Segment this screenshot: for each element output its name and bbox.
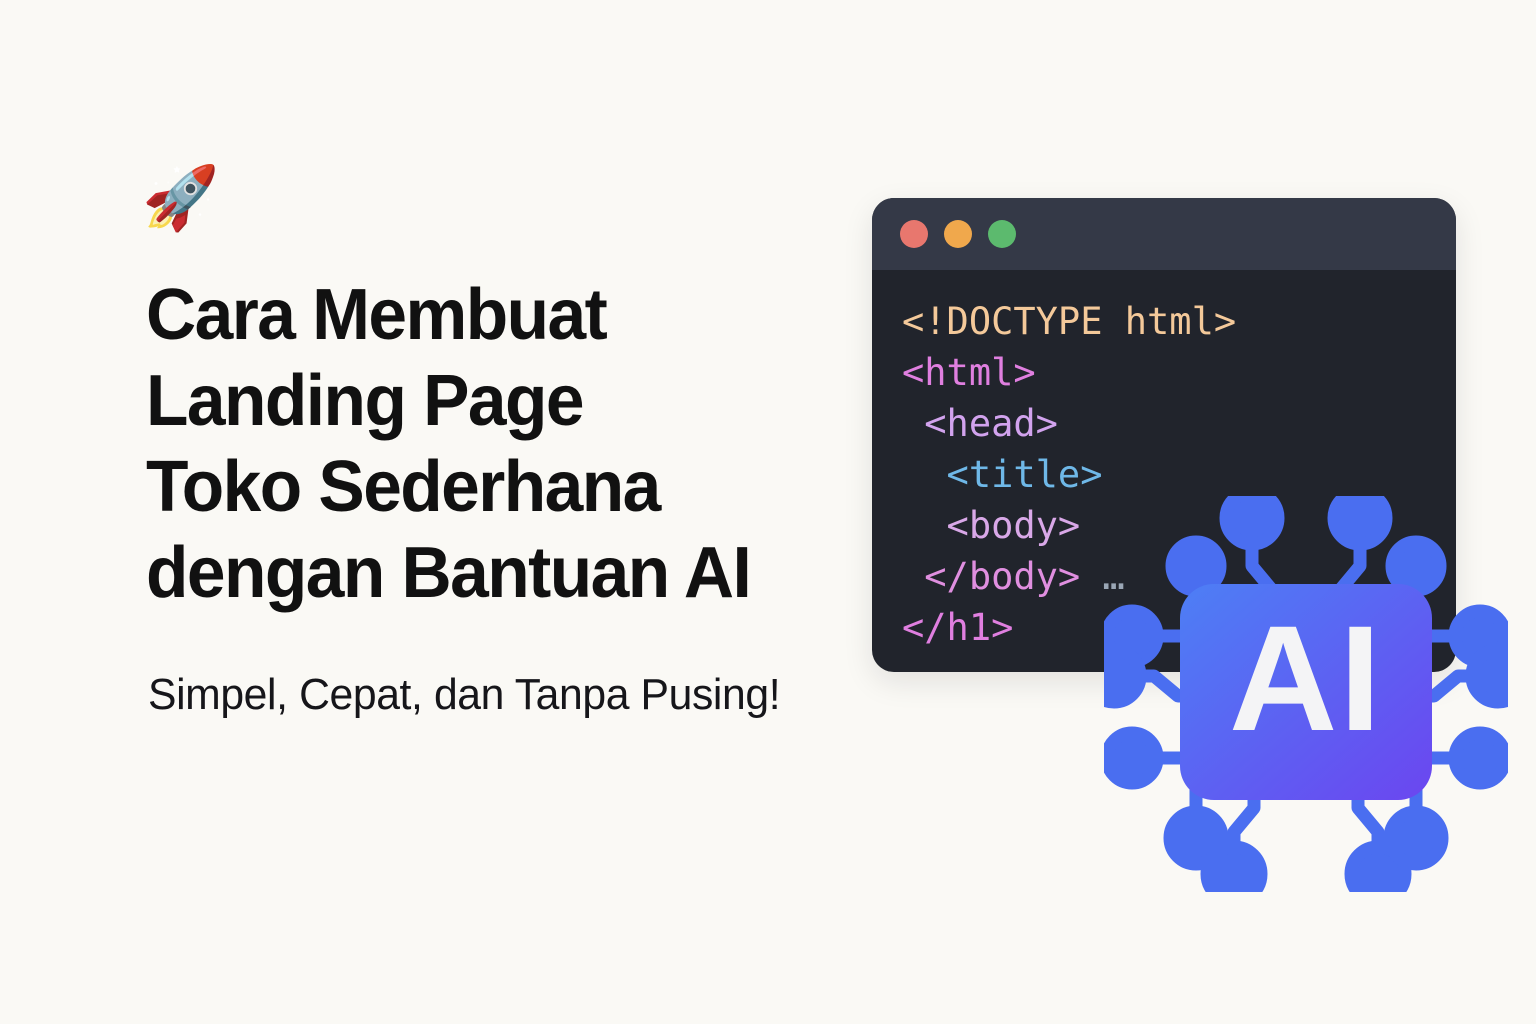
- close-dot[interactable]: [900, 220, 928, 248]
- code-token: <title>: [902, 453, 1102, 496]
- code-line: <!DOCTYPE html>: [902, 296, 1456, 347]
- rocket-icon: 🚀: [142, 168, 219, 230]
- code-token: <head>: [902, 402, 1058, 445]
- code-token: </h1>: [902, 606, 1013, 649]
- headline-line-2: Landing Page: [146, 361, 583, 441]
- code-line: <head>: [902, 398, 1456, 449]
- code-line: <html>: [902, 347, 1456, 398]
- headline-line-1: Cara Membuat: [146, 275, 606, 355]
- poster-canvas: 🚀 Cara Membuat Landing Page Toko Sederha…: [0, 0, 1536, 1024]
- code-token: <html>: [902, 351, 1036, 394]
- code-token: </body>: [902, 555, 1080, 598]
- ai-chip-icon: AI: [1104, 496, 1508, 892]
- minimize-dot[interactable]: [944, 220, 972, 248]
- code-token: <body>: [902, 504, 1080, 547]
- headline-line-4: dengan Bantuan AI: [146, 533, 750, 613]
- chip-label: AI: [1229, 594, 1383, 762]
- page-title: Cara Membuat Landing Page Toko Sederhana…: [146, 272, 850, 616]
- page-subtitle: Simpel, Cepat, dan Tanpa Pusing!: [148, 668, 780, 722]
- maximize-dot[interactable]: [988, 220, 1016, 248]
- code-line: <title>: [902, 449, 1456, 500]
- code-token: <!DOCTYPE html>: [902, 300, 1236, 343]
- code-window-titlebar: [872, 198, 1456, 270]
- headline-line-3: Toko Sederhana: [146, 447, 660, 527]
